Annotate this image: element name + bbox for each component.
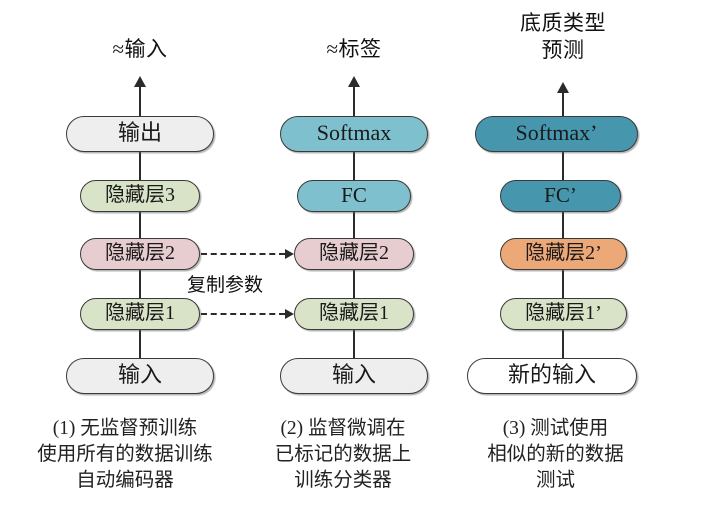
col2-spine-1 (353, 150, 355, 184)
col2-node-fc[interactable]: FC (297, 180, 411, 212)
col2-node-hidden1[interactable]: 隐藏层1 (294, 298, 414, 330)
caption-col3-line3: 测试 (448, 468, 663, 494)
col3-top-label: 底质类型 预测 (488, 10, 638, 64)
col3-node-fc[interactable]: FC’ (500, 180, 621, 212)
col1-node-hidden3-label: 隐藏层3 (105, 185, 175, 205)
col2-spine-4 (353, 328, 355, 360)
caption-col2: (2) 监督微调在 已标记的数据上 训练分类器 (243, 416, 443, 494)
figure-canvas: ≈输入 输出 隐藏层3 隐藏层2 隐藏层1 输入 复制参数 ≈标签 Softma… (0, 0, 711, 515)
caption-col1-line2: 使用所有的数据训练 (10, 442, 240, 468)
col1-node-hidden3[interactable]: 隐藏层3 (80, 180, 200, 212)
col3-node-input-label: 新的输入 (508, 364, 596, 386)
caption-col2-line2: 已标记的数据上 (243, 442, 443, 468)
col3-spine-1 (562, 150, 564, 184)
col1-node-output-label: 输出 (118, 122, 162, 144)
col2-node-fc-label: FC (341, 185, 367, 206)
col2-node-input-label: 输入 (332, 364, 376, 386)
col1-node-hidden1-label: 隐藏层1 (105, 303, 175, 323)
col3-node-hidden1-label: 隐藏层1’ (525, 303, 602, 323)
caption-col1-line3: 自动编码器 (10, 468, 240, 494)
caption-col3-line1: (3) 测试使用 (448, 416, 663, 442)
transfer-arrow-1-head (285, 309, 294, 319)
col3-node-hidden1[interactable]: 隐藏层1’ (500, 298, 627, 330)
caption-col3: (3) 测试使用 相似的新的数据 测试 (448, 416, 663, 494)
col2-node-input[interactable]: 输入 (280, 358, 428, 394)
col3-spine-4 (562, 328, 564, 360)
col2-node-softmax[interactable]: Softmax (280, 116, 428, 152)
col1-node-hidden2[interactable]: 隐藏层2 (80, 238, 200, 270)
col2-node-hidden1-label: 隐藏层1 (319, 303, 389, 323)
col1-output-arrowhead (134, 76, 146, 87)
col1-output-arrow-shaft (139, 84, 141, 118)
caption-col1: (1) 无监督预训练 使用所有的数据训练 自动编码器 (10, 416, 240, 494)
col3-top-label-line1: 底质类型 (488, 10, 638, 37)
caption-col1-line1: (1) 无监督预训练 (10, 416, 240, 442)
col1-spine-1 (139, 150, 141, 184)
col3-output-arrow-shaft (562, 92, 564, 118)
col3-node-softmax[interactable]: Softmax’ (475, 116, 638, 152)
col3-node-fc-label: FC’ (544, 185, 577, 206)
col2-node-softmax-label: Softmax (317, 122, 392, 144)
caption-col3-line2: 相似的新的数据 (448, 442, 663, 468)
col2-output-arrow-shaft (353, 84, 355, 118)
caption-col2-line3: 训练分类器 (243, 468, 443, 494)
transfer-arrow-1-line (201, 313, 285, 315)
col1-node-output[interactable]: 输出 (66, 116, 214, 152)
col2-top-label: ≈标签 (289, 36, 419, 63)
col3-node-input[interactable]: 新的输入 (467, 358, 637, 394)
col1-node-input[interactable]: 输入 (66, 358, 214, 394)
transfer-arrow-2-head (285, 249, 294, 259)
transfer-label: 复制参数 (187, 270, 263, 297)
col3-node-hidden2-label: 隐藏层2’ (525, 243, 602, 263)
col1-spine-4 (139, 328, 141, 360)
col1-node-hidden2-label: 隐藏层2 (105, 243, 175, 263)
col1-top-label: ≈输入 (75, 36, 205, 63)
caption-col2-line1: (2) 监督微调在 (243, 416, 443, 442)
col3-node-hidden2[interactable]: 隐藏层2’ (500, 238, 627, 270)
col3-output-arrowhead (557, 82, 569, 93)
col2-node-hidden2[interactable]: 隐藏层2 (294, 238, 414, 270)
col2-output-arrowhead (348, 76, 360, 87)
col3-top-label-line2: 预测 (488, 37, 638, 64)
col3-node-softmax-label: Softmax’ (516, 122, 598, 144)
col1-node-hidden1[interactable]: 隐藏层1 (80, 298, 200, 330)
col2-node-hidden2-label: 隐藏层2 (319, 243, 389, 263)
transfer-arrow-2-line (201, 253, 285, 255)
col1-node-input-label: 输入 (118, 364, 162, 386)
